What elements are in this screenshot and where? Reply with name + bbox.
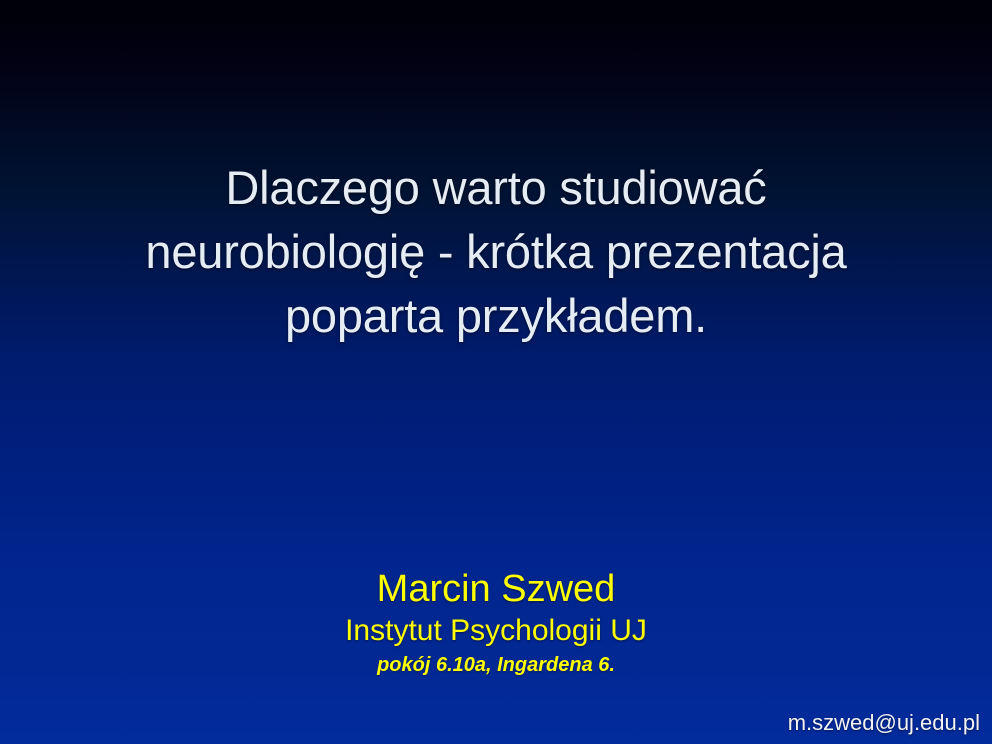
author-office-location: pokój 6.10a, Ingardena 6. (0, 650, 992, 680)
author-affiliation: Instytut Psychologii UJ (0, 612, 992, 650)
title-line-2: neurobiologię - krótka prezentacja (56, 220, 936, 284)
author-name: Marcin Szwed (0, 566, 992, 612)
presentation-slide: Dlaczego warto studiować neurobiologię -… (0, 0, 992, 744)
slide-title: Dlaczego warto studiować neurobiologię -… (56, 156, 936, 348)
title-line-3: poparta przykładem. (56, 284, 936, 348)
author-block: Marcin Szwed Instytut Psychologii UJ pok… (0, 566, 992, 680)
contact-email: m.szwed@uj.edu.pl (788, 708, 980, 738)
title-line-1: Dlaczego warto studiować (56, 156, 936, 220)
